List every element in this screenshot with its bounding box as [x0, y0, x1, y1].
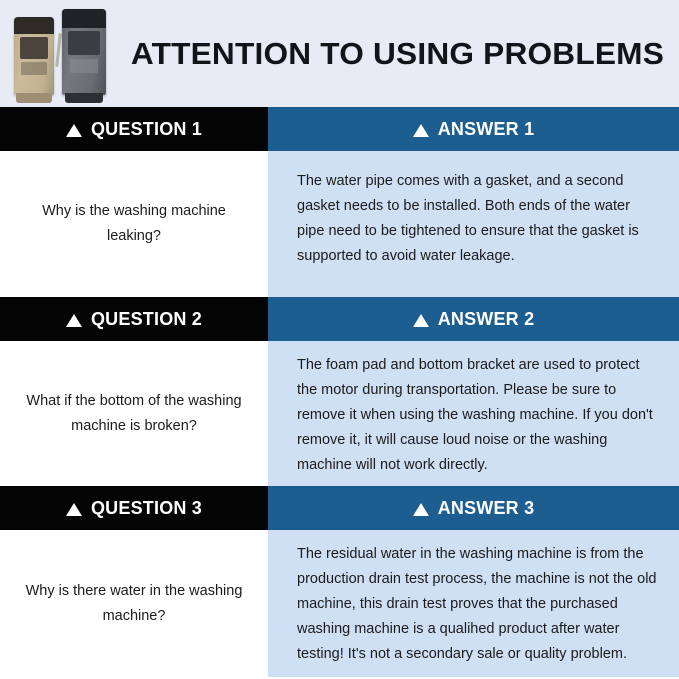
gold-machine-lid	[14, 17, 54, 34]
faq-row-1-headers: QUESTION 1 ANSWER 1	[0, 107, 679, 151]
grey-machine-lid-inner	[68, 31, 100, 55]
banner: ATTENTION TO USING PROBLEMS	[0, 0, 679, 107]
faq-infographic: ATTENTION TO USING PROBLEMS QUESTION 1 A…	[0, 0, 679, 679]
grey-machine-lid	[62, 9, 106, 28]
page-title: ATTENTION TO USING PROBLEMS	[116, 36, 679, 72]
grey-washing-machine-image	[62, 9, 106, 95]
faq-row-3-body: Why is there water in the washing machin…	[0, 530, 679, 677]
question-2-text: What if the bottom of the washing machin…	[0, 341, 268, 486]
faq-row-2-headers: QUESTION 2 ANSWER 2	[0, 297, 679, 341]
answer-1-text: The water pipe comes with a gasket, and …	[268, 151, 679, 297]
answer-1-header-label: ANSWER 1	[438, 119, 535, 140]
question-3-header: QUESTION 3	[0, 486, 268, 530]
grey-machine-base	[65, 93, 104, 103]
gold-machine-base	[16, 93, 51, 103]
faq-row-1-body: Why is the washing machine leaking? The …	[0, 151, 679, 297]
answer-2-header-label: ANSWER 2	[438, 309, 535, 330]
grey-machine-panel	[70, 59, 98, 73]
answer-2-header: ANSWER 2	[268, 297, 679, 341]
question-1-header-label: QUESTION 1	[91, 119, 202, 140]
faq-row-3-headers: QUESTION 3 ANSWER 3	[0, 486, 679, 530]
question-2-header-label: QUESTION 2	[91, 309, 202, 330]
question-3-text: Why is there water in the washing machin…	[0, 530, 268, 677]
question-1-text: Why is the washing machine leaking?	[0, 151, 268, 297]
gold-washing-machine-image	[14, 17, 54, 95]
answer-3-header-label: ANSWER 3	[438, 498, 535, 519]
question-2-header: QUESTION 2	[0, 297, 268, 341]
triangle-up-icon	[413, 503, 429, 516]
answer-2-text: The foam pad and bottom bracket are used…	[268, 341, 679, 486]
faq-row-1: QUESTION 1 ANSWER 1 Why is the washing m…	[0, 107, 679, 297]
triangle-up-icon	[66, 124, 82, 137]
triangle-up-icon	[413, 314, 429, 327]
gold-machine-panel	[21, 62, 47, 74]
answer-1-header: ANSWER 1	[268, 107, 679, 151]
gold-machine-lid-inner	[20, 37, 49, 59]
faq-row-2: QUESTION 2 ANSWER 2 What if the bottom o…	[0, 297, 679, 486]
faq-row-3: QUESTION 3 ANSWER 3 Why is there water i…	[0, 486, 679, 677]
question-1-header: QUESTION 1	[0, 107, 268, 151]
answer-3-header: ANSWER 3	[268, 486, 679, 530]
triangle-up-icon	[66, 503, 82, 516]
faq-row-2-body: What if the bottom of the washing machin…	[0, 341, 679, 486]
product-images	[0, 0, 122, 107]
answer-3-text: The residual water in the washing machin…	[268, 530, 679, 677]
water-hose	[55, 33, 62, 67]
triangle-up-icon	[66, 314, 82, 327]
question-3-header-label: QUESTION 3	[91, 498, 202, 519]
triangle-up-icon	[413, 124, 429, 137]
